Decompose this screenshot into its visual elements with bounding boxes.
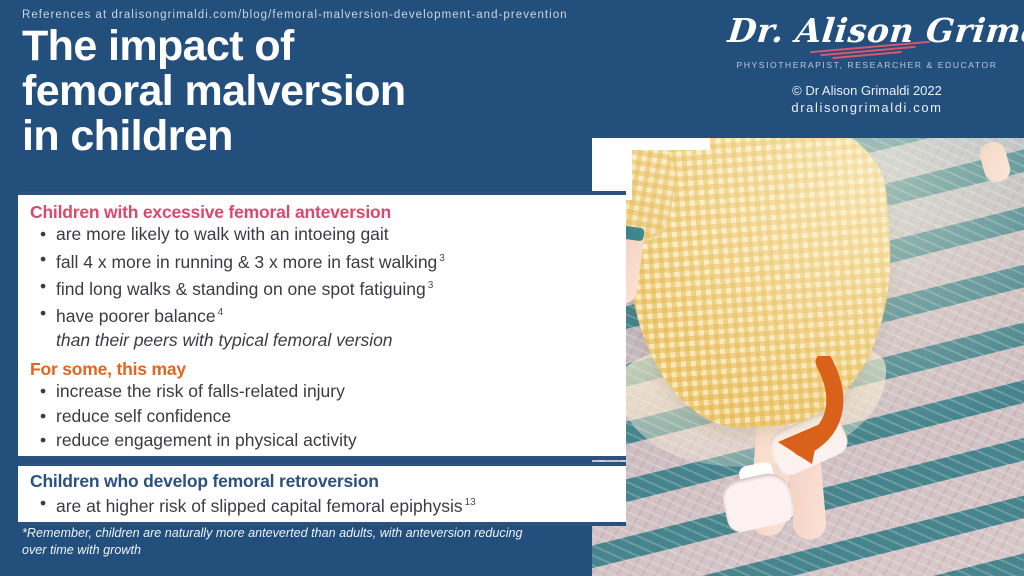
bullet-dot: •	[40, 404, 46, 429]
list-item: •reduce self confidence	[30, 404, 626, 429]
citation-marker: 3	[428, 280, 434, 291]
brand-script-name: Dr. Alison Grimaldi	[726, 12, 1008, 50]
title-line-3: in children	[22, 114, 602, 159]
infographic-slide: References at dralisongrimaldi.com/blog/…	[0, 0, 1024, 576]
bullet-dot: •	[40, 247, 46, 272]
bullet-list-for-some: •increase the risk of falls-related inju…	[30, 379, 626, 453]
brand-underline-swoosh-icon	[728, 46, 1006, 57]
list-item: •find long walks & standing on one spot …	[30, 274, 626, 301]
bullet-dot: •	[40, 491, 46, 516]
section-subnote-anteversion: than their peers with typical femoral ve…	[30, 328, 626, 352]
list-item-text: are more likely to walk with an intoeing…	[56, 224, 389, 244]
brand-website: dralisongrimaldi.com	[728, 100, 1006, 115]
bullet-dot: •	[40, 301, 46, 326]
list-item: •fall 4 x more in running & 3 x more in …	[30, 247, 626, 274]
title-line-2: femoral malversion	[22, 69, 602, 114]
list-item-text: are at higher risk of slipped capital fe…	[56, 496, 463, 516]
brand-tagline: PHYSIOTHERAPIST, RESEARCHER & EDUCATOR	[728, 60, 1006, 70]
reference-url-line: References at dralisongrimaldi.com/blog/…	[22, 9, 568, 21]
citation-marker: 4	[218, 307, 224, 318]
bullet-dot: •	[40, 428, 46, 453]
section-heading-for-some: For some, this may	[30, 359, 626, 379]
list-item: •are at higher risk of slipped capital f…	[30, 491, 626, 518]
brand-logo: Dr. Alison Grimaldi PHYSIOTHERAPIST, RES…	[728, 12, 1006, 115]
bullet-list-retroversion: •are at higher risk of slipped capital f…	[30, 491, 626, 518]
footnote-line-1: *Remember, children are naturally more a…	[22, 525, 594, 542]
list-item: •reduce engagement in physical activity	[30, 428, 626, 453]
section-spacer	[30, 352, 626, 359]
photo-top-edge-notch	[592, 138, 710, 150]
list-item: •increase the risk of falls-related inju…	[30, 379, 626, 404]
bullet-dot: •	[40, 379, 46, 404]
photo-child-walking	[592, 138, 1024, 576]
title-line-1: The impact of	[22, 24, 602, 69]
list-item-text: find long walks & standing on one spot f…	[56, 279, 426, 299]
list-item-text: reduce engagement in physical activity	[56, 430, 357, 450]
footnote-line-2: over time with growth	[22, 542, 594, 559]
list-item-text: increase the risk of falls-related injur…	[56, 381, 345, 401]
list-item: •are more likely to walk with an intoein…	[30, 222, 626, 247]
citation-marker: 3	[439, 253, 445, 264]
card-retroversion: Children who develop femoral retroversio…	[18, 462, 626, 526]
list-item-text: have poorer balance	[56, 306, 216, 326]
photo-content	[592, 138, 1024, 576]
footnote: *Remember, children are naturally more a…	[22, 525, 594, 559]
bullet-dot: •	[40, 222, 46, 247]
brand-copyright: © Dr Alison Grimaldi 2022	[728, 81, 1006, 100]
list-item: •have poorer balance4	[30, 301, 626, 328]
bullet-dot: •	[40, 274, 46, 299]
section-heading-anteversion: Children with excessive femoral antevers…	[30, 202, 626, 222]
list-item-text: reduce self confidence	[56, 406, 231, 426]
intoeing-pointer-arrow-icon	[716, 356, 856, 476]
page-title: The impact of femoral malversion in chil…	[22, 24, 602, 159]
citation-marker: 13	[465, 497, 476, 508]
card-anteversion: Children with excessive femoral antevers…	[18, 191, 626, 460]
bullet-list-anteversion: •are more likely to walk with an intoein…	[30, 222, 626, 328]
section-heading-retroversion: Children who develop femoral retroversio…	[30, 471, 626, 491]
list-item-text: fall 4 x more in running & 3 x more in f…	[56, 251, 437, 271]
